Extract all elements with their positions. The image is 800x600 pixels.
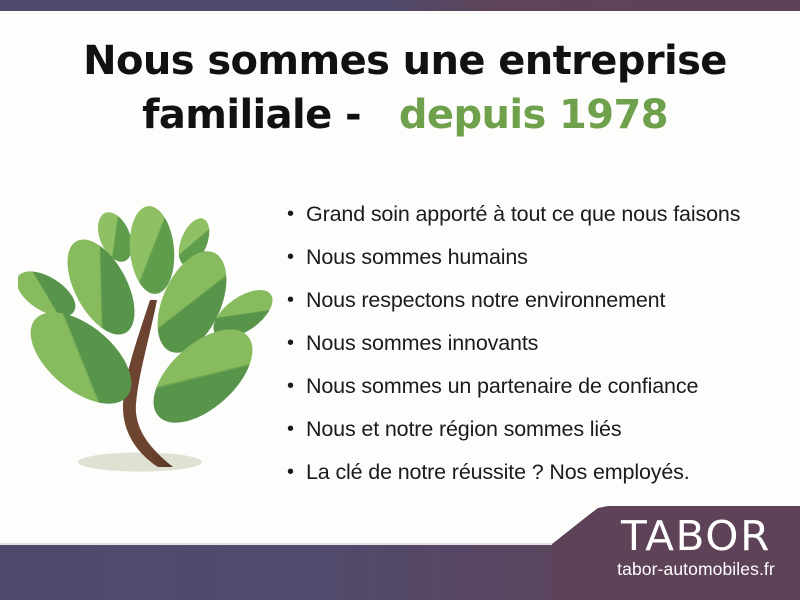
- bullet-marker-icon: •: [284, 247, 306, 267]
- list-item-label: Nous respectons notre environnement: [306, 287, 665, 313]
- bullet-list: • Grand soin apporté à tout ce que nous …: [284, 192, 784, 493]
- list-item-label: Grand soin apporté à tout ce que nous fa…: [306, 201, 740, 227]
- brand-logo[interactable]: TABOR tabor-automobiles.fr: [598, 514, 794, 580]
- list-item: • La clé de notre réussite ? Nos employé…: [284, 450, 784, 493]
- list-item: • Nous sommes innovants: [284, 321, 784, 364]
- list-item-label: La clé de notre réussite ? Nos employés.: [306, 459, 690, 485]
- list-item: • Nous sommes un partenaire de confiance: [284, 364, 784, 407]
- title-line-1: Nous sommes une entreprise: [83, 38, 727, 84]
- list-item-label: Nous et notre région sommes liés: [306, 416, 621, 442]
- tree-shadow: [78, 453, 202, 472]
- bullet-marker-icon: •: [284, 290, 306, 310]
- list-item: • Grand soin apporté à tout ce que nous …: [284, 192, 784, 235]
- title-spacer: [361, 92, 399, 138]
- title-line-2-plain: familiale -: [142, 92, 361, 138]
- bullet-marker-icon: •: [284, 204, 306, 224]
- tree-illustration: [18, 190, 274, 492]
- list-item: • Nous sommes humains: [284, 235, 784, 278]
- list-item-label: Nous sommes humains: [306, 244, 528, 270]
- bullet-marker-icon: •: [284, 462, 306, 482]
- bullet-marker-icon: •: [284, 376, 306, 396]
- slide-canvas: Nous sommes une entreprise familiale - d…: [0, 0, 800, 600]
- page-title: Nous sommes une entreprise familiale - d…: [60, 34, 750, 142]
- list-item-label: Nous sommes un partenaire de confiance: [306, 373, 698, 399]
- top-accent-bar: [0, 0, 800, 11]
- bullet-marker-icon: •: [284, 419, 306, 439]
- title-line-2-accent: depuis 1978: [399, 92, 668, 138]
- list-item: • Nous respectons notre environnement: [284, 278, 784, 321]
- brand-website-tagline: tabor-automobiles.fr: [598, 559, 794, 580]
- list-item: • Nous et notre région sommes liés: [284, 407, 784, 450]
- brand-wordmark: TABOR: [595, 514, 797, 558]
- list-item-label: Nous sommes innovants: [306, 330, 538, 356]
- bullet-marker-icon: •: [284, 333, 306, 353]
